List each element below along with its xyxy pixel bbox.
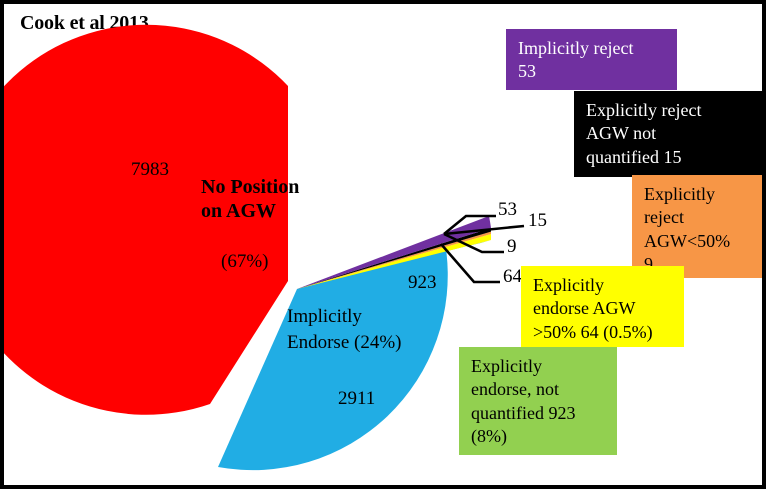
slice-label-no-position-count: 7983: [131, 159, 169, 181]
leader-number-implicitly-reject: 53: [498, 199, 517, 221]
callout-explicitly-reject-not-quantified: Explicitly reject AGW not quantified 15: [574, 91, 766, 177]
slice-label-no-position-percent: (67%): [201, 226, 268, 297]
leader-number-explicit-reject-nq: 15: [528, 210, 547, 232]
leader-number-explicit-endorse-50: 64: [503, 266, 522, 288]
slice-label-explicit-endorse-nq-count: 923: [408, 272, 437, 294]
callout-explicitly-reject-agw-under-50: Explicitly reject AGW<50% 9: [632, 175, 766, 278]
slice-label-implicitly-endorse-name: Implicitly Endorse (24%): [287, 304, 402, 355]
callout-explicitly-endorse-not-quantified: Explicitly endorse, not quantified 923 (…: [459, 347, 617, 455]
slice-label-implicitly-endorse-count: 2911: [338, 388, 375, 410]
callout-explicitly-endorse-agw-over-50: Explicitly endorse AGW >50% 64 (0.5%): [521, 266, 684, 347]
slice-percent-no-position: (67%): [221, 251, 268, 272]
callout-implicitly-reject: Implicitly reject 53: [506, 29, 677, 90]
pie-chart-figure: Cook et al 2013 7983 No Position on AGW …: [0, 0, 766, 489]
leader-number-explicit-reject-50: 9: [507, 236, 517, 258]
slice-label-no-position-name: No Position on AGW: [201, 176, 299, 223]
